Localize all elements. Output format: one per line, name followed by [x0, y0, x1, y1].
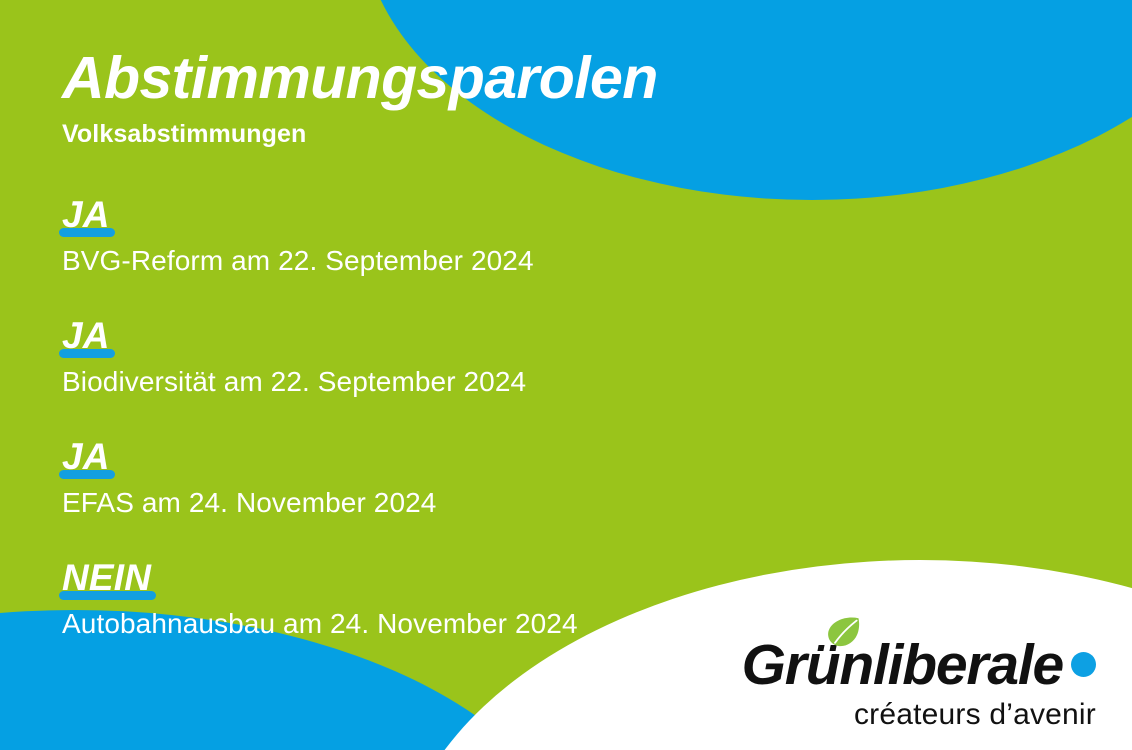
page-title: Abstimmungsparolen	[62, 48, 658, 108]
logo-wordmark-row: Grünliberale	[742, 637, 1096, 694]
party-logo: Grünliberale créateurs d’avenir	[742, 637, 1096, 732]
dot-icon	[1071, 652, 1096, 677]
recommendation-list: JA BVG-Reform am 22. September 2024 JA B…	[62, 196, 822, 640]
measure-label: Biodiversität am 22. September 2024	[62, 366, 822, 398]
logo-wordmark-text: Grünliberale	[742, 633, 1063, 697]
logo-wordmark: Grünliberale	[742, 637, 1063, 694]
verdict-wrap: NEIN	[62, 559, 151, 600]
recommendation-item: JA Biodiversität am 22. September 2024	[62, 317, 822, 398]
verdict-wrap: JA	[62, 317, 110, 358]
verdict-label: JA	[62, 317, 110, 354]
page-subtitle: Volksabstimmungen	[62, 120, 658, 149]
verdict-label: NEIN	[62, 559, 151, 596]
logo-tagline: créateurs d’avenir	[742, 698, 1096, 732]
measure-label: Autobahnausbau am 24. November 2024	[62, 608, 822, 640]
recommendation-item: JA BVG-Reform am 22. September 2024	[62, 196, 822, 277]
verdict-wrap: JA	[62, 196, 110, 237]
measure-label: EFAS am 24. November 2024	[62, 487, 822, 519]
measure-label: BVG-Reform am 22. September 2024	[62, 245, 822, 277]
headline-block: Abstimmungsparolen Volksabstimmungen	[62, 48, 658, 149]
leaf-icon	[826, 617, 860, 647]
recommendation-item: NEIN Autobahnausbau am 24. November 2024	[62, 559, 822, 640]
verdict-label: JA	[62, 438, 110, 475]
verdict-label: JA	[62, 196, 110, 233]
verdict-wrap: JA	[62, 438, 110, 479]
poster-canvas: Abstimmungsparolen Volksabstimmungen JA …	[0, 0, 1132, 750]
recommendation-item: JA EFAS am 24. November 2024	[62, 438, 822, 519]
